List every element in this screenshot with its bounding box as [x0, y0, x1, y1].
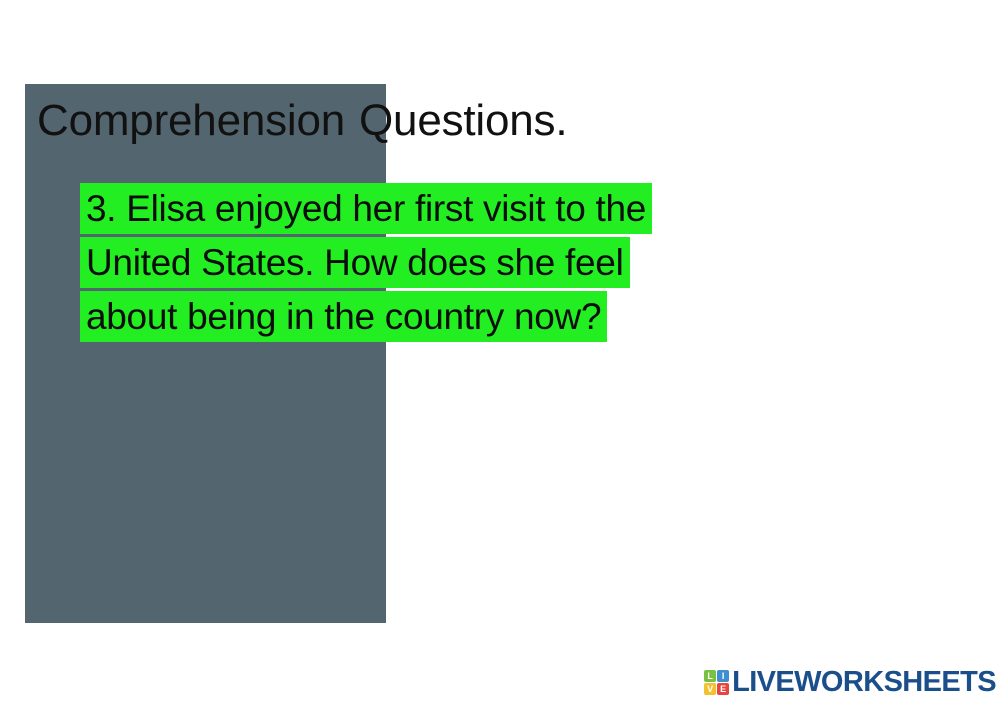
logo-tile-e: E — [717, 683, 729, 695]
decorative-slate-panel — [25, 84, 386, 623]
question-line-text: United States. How does she feel — [80, 237, 630, 288]
logo-tile-i: I — [717, 670, 729, 682]
liveworksheets-logo-icon: L I V E — [704, 670, 729, 695]
page-title-first-word: Comprehension — [37, 96, 345, 145]
liveworksheets-wordmark: LIVEWORKSHEETS — [732, 666, 996, 699]
page-title: ComprehensionQuestions. — [37, 93, 737, 153]
page-title-rest: Questions. — [359, 96, 567, 145]
question-line: United States. How does she feel — [80, 236, 840, 290]
logo-tile-l: L — [704, 670, 716, 682]
question-line-text: 3. Elisa enjoyed her first visit to the — [80, 183, 652, 234]
question-line: 3. Elisa enjoyed her first visit to the — [80, 182, 840, 236]
question-line-text: about being in the country now? — [80, 291, 607, 342]
liveworksheets-logo[interactable]: L I V E LIVEWORKSHEETS — [704, 665, 996, 699]
question-line: about being in the country now? — [80, 290, 840, 344]
question-text-block: 3. Elisa enjoyed her first visit to the … — [80, 182, 840, 344]
logo-tile-v: V — [704, 683, 716, 695]
worksheet-canvas: ComprehensionQuestions. 3. Elisa enjoyed… — [0, 0, 1000, 707]
